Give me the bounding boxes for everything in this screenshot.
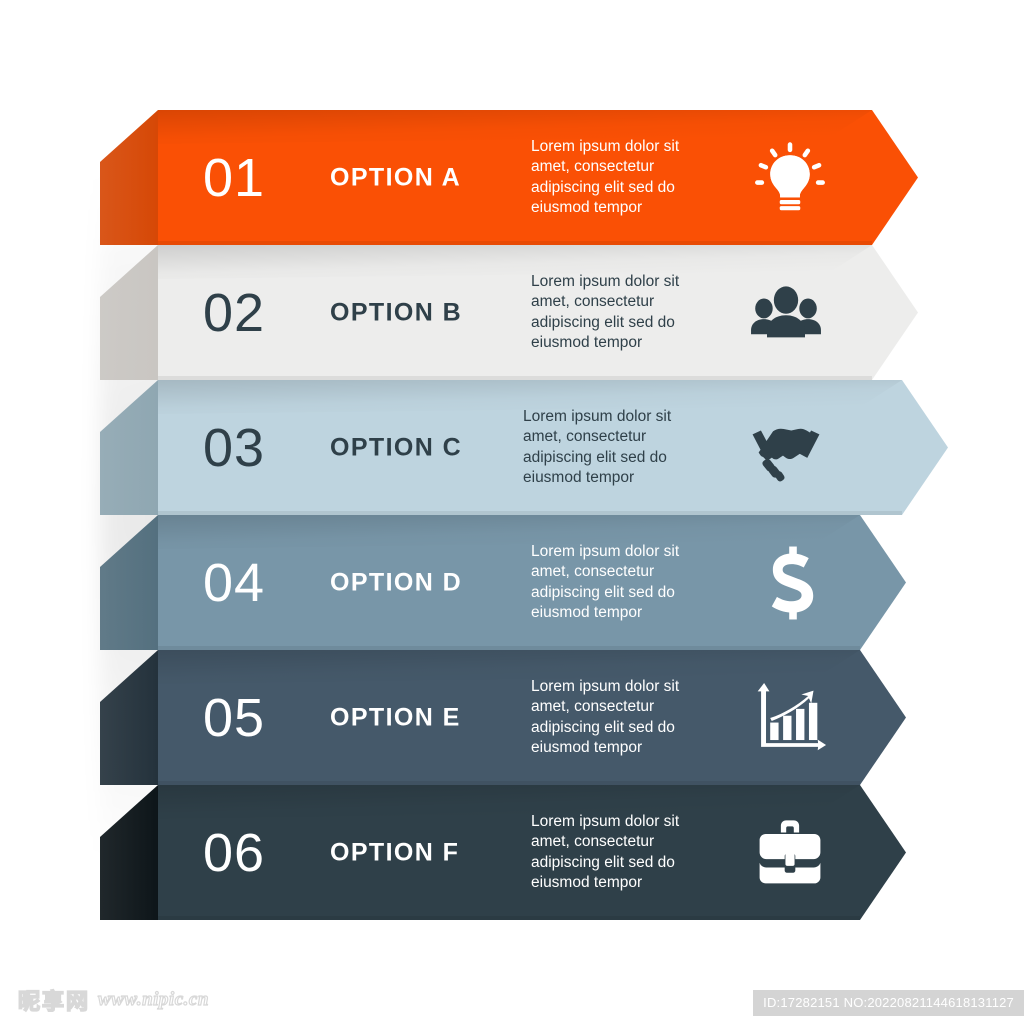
row-description: Lorem ipsum dolor sit amet, consectetur … <box>531 811 711 893</box>
row-left-3d-face <box>100 515 160 650</box>
infographic-canvas: 01OPTION ALorem ipsum dolor sit amet, co… <box>0 0 1024 1024</box>
arrow-row-02[interactable]: 02OPTION BLorem ipsum dolor sit amet, co… <box>158 245 918 380</box>
row-description: Lorem ipsum dolor sit amet, consectetur … <box>531 541 711 623</box>
row-description: Lorem ipsum dolor sit amet, consectetur … <box>523 406 703 488</box>
id-badge: ID:17282151 NO:20220821144618131127 <box>753 990 1024 1016</box>
row-description: Lorem ipsum dolor sit amet, consectetur … <box>531 136 711 218</box>
row-number: 05 <box>203 691 265 745</box>
arrow-row-05[interactable]: 05OPTION ELorem ipsum dolor sit amet, co… <box>158 650 906 785</box>
row-left-3d-face <box>100 650 160 785</box>
arrow-row-06[interactable]: 06OPTION FLorem ipsum dolor sit amet, co… <box>158 785 906 920</box>
row-description: Lorem ipsum dolor sit amet, consectetur … <box>531 676 711 758</box>
row-content: 04OPTION DLorem ipsum dolor sit amet, co… <box>158 515 906 650</box>
arrow-row-03[interactable]: 03OPTION CLorem ipsum dolor sit amet, co… <box>158 380 948 515</box>
row-title: OPTION B <box>330 300 462 325</box>
row-title: OPTION C <box>330 435 462 460</box>
lightbulb-icon <box>752 140 828 216</box>
arrow-row-stack: 01OPTION ALorem ipsum dolor sit amet, co… <box>0 0 1024 1024</box>
briefcase-icon <box>752 815 828 891</box>
row-number: 03 <box>203 421 265 475</box>
people-group-icon <box>748 275 824 351</box>
bar-chart-growth-icon <box>755 680 831 756</box>
row-left-3d-face <box>100 785 160 920</box>
row-title: OPTION A <box>330 165 461 190</box>
row-description: Lorem ipsum dolor sit amet, consectetur … <box>531 271 711 353</box>
row-left-3d-face <box>100 110 160 245</box>
row-title: OPTION D <box>330 570 462 595</box>
row-content: 02OPTION BLorem ipsum dolor sit amet, co… <box>158 245 918 380</box>
watermark-url-text: www.nipic.cn <box>98 989 209 1011</box>
dollar-sign-icon <box>755 545 831 621</box>
arrow-row-04[interactable]: 04OPTION DLorem ipsum dolor sit amet, co… <box>158 515 906 650</box>
row-number: 04 <box>203 556 265 610</box>
row-number: 06 <box>203 826 265 880</box>
handshake-icon <box>748 410 824 486</box>
row-number: 02 <box>203 286 265 340</box>
row-number: 01 <box>203 151 265 205</box>
watermark: 昵享网 www.nipic.cn <box>18 984 209 1016</box>
watermark-cn-text: 昵享网 <box>18 984 90 1016</box>
arrow-row-01[interactable]: 01OPTION ALorem ipsum dolor sit amet, co… <box>158 110 918 245</box>
row-title: OPTION F <box>330 840 459 865</box>
row-content: 03OPTION CLorem ipsum dolor sit amet, co… <box>158 380 948 515</box>
row-content: 01OPTION ALorem ipsum dolor sit amet, co… <box>158 110 918 245</box>
row-title: OPTION E <box>330 705 461 730</box>
row-content: 05OPTION ELorem ipsum dolor sit amet, co… <box>158 650 906 785</box>
row-left-3d-face <box>100 380 160 515</box>
row-left-3d-face <box>100 245 160 380</box>
row-content: 06OPTION FLorem ipsum dolor sit amet, co… <box>158 785 906 920</box>
